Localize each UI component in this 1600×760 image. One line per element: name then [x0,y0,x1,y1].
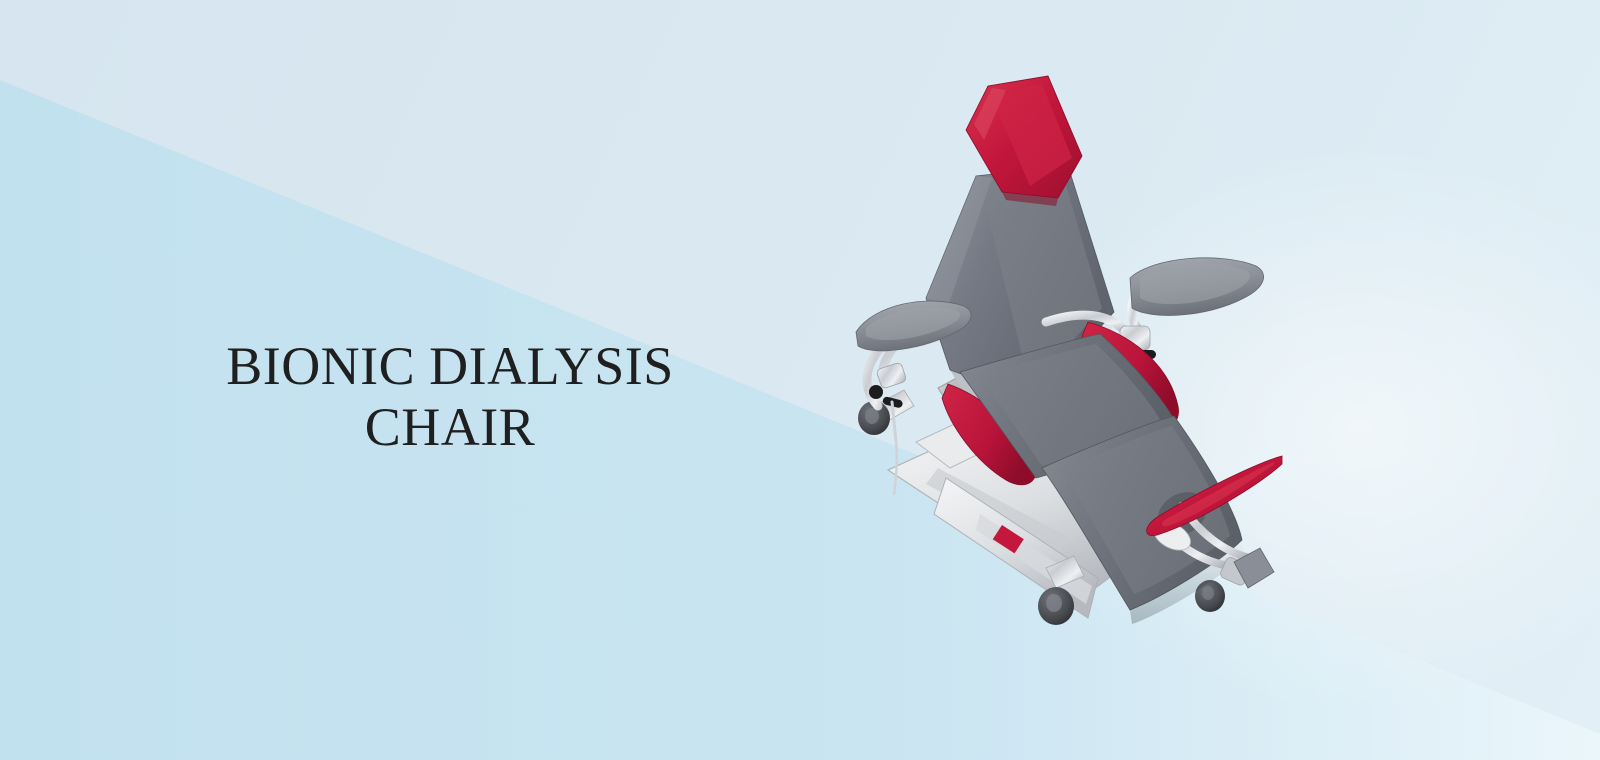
product-banner: BIONIC DIALYSIS CHAIR Bionic dialysis ch… [0,0,1600,760]
page-title-line-2: CHAIR [100,397,800,457]
dialysis-chair-illustration: Bionic dialysis chair with red headrest,… [830,70,1350,680]
page-title: BIONIC DIALYSIS CHAIR [100,336,800,457]
product-image: Bionic dialysis chair with red headrest,… [830,70,1350,680]
page-title-line-1: BIONIC DIALYSIS [100,336,800,396]
